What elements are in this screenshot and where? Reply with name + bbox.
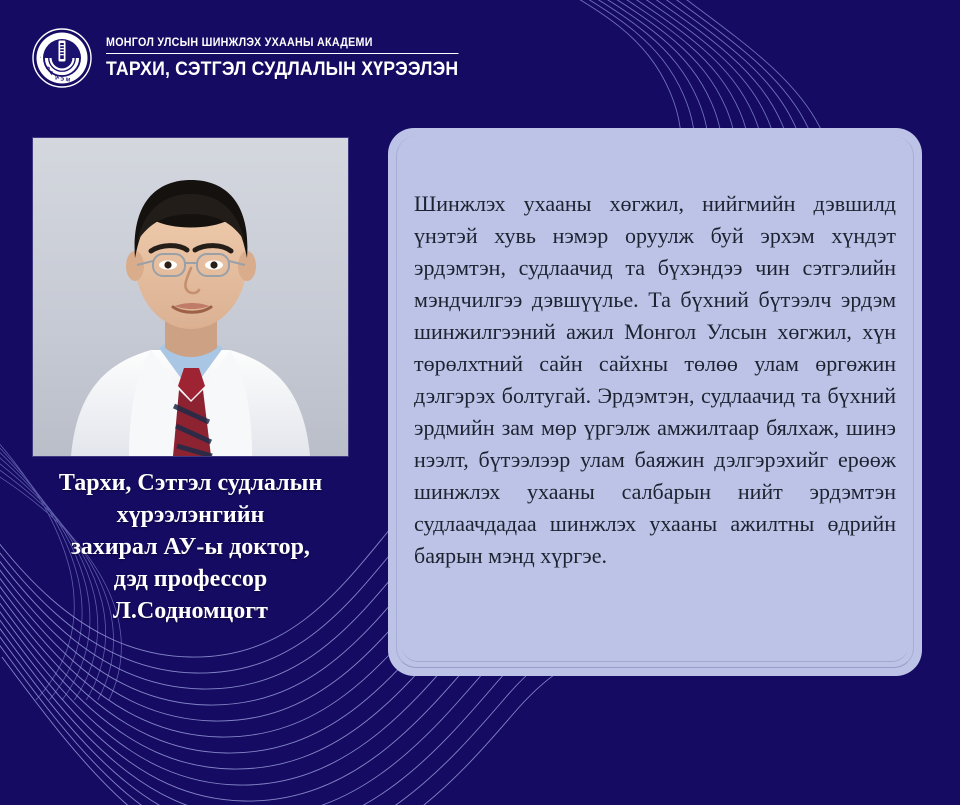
poster-header: Э Р Д Э М · МОНГОЛ УЛСЫН ШИНЖЛЭХ УХААНЫ … xyxy=(32,28,485,88)
director-portrait-photo xyxy=(33,138,348,456)
caption-line-5: Л.Содномцогт xyxy=(18,596,363,628)
director-caption: Тархи, Сэтгэл судлалын хүрээлэнгийн захи… xyxy=(18,468,363,628)
caption-line-3: захирал АУ-ы доктор, xyxy=(18,532,363,564)
caption-line-4: дэд профессор xyxy=(18,564,363,596)
org-name-block: МОНГОЛ УЛСЫН ШИНЖЛЭХ УХААНЫ АКАДЕМИ ТАРХ… xyxy=(106,35,485,81)
mas-circular-seal-icon: Э Р Д Э М · xyxy=(32,28,92,88)
svg-text:М: М xyxy=(65,77,70,84)
person-portrait-illustration xyxy=(33,138,348,456)
institute-name: ТАРХИ, СЭТГЭЛ СУДЛАЛЫН ХҮРЭЭЛЭН xyxy=(106,59,458,81)
greeting-poster: Э Р Д Э М · МОНГОЛ УЛСЫН ШИНЖЛЭХ УХААНЫ … xyxy=(0,0,960,805)
greeting-message-card: Шинжлэх ухааны хөгжил, нийгмийн дэвшилд … xyxy=(388,128,922,676)
academy-name: МОНГОЛ УЛСЫН ШИНЖЛЭХ УХААНЫ АКАДЕМИ xyxy=(106,37,458,54)
caption-line-2: хүрээлэнгийн xyxy=(18,500,363,532)
caption-line-1: Тархи, Сэтгэл судлалын xyxy=(18,468,363,500)
greeting-message-text: Шинжлэх ухааны хөгжил, нийгмийн дэвшилд … xyxy=(414,188,896,572)
